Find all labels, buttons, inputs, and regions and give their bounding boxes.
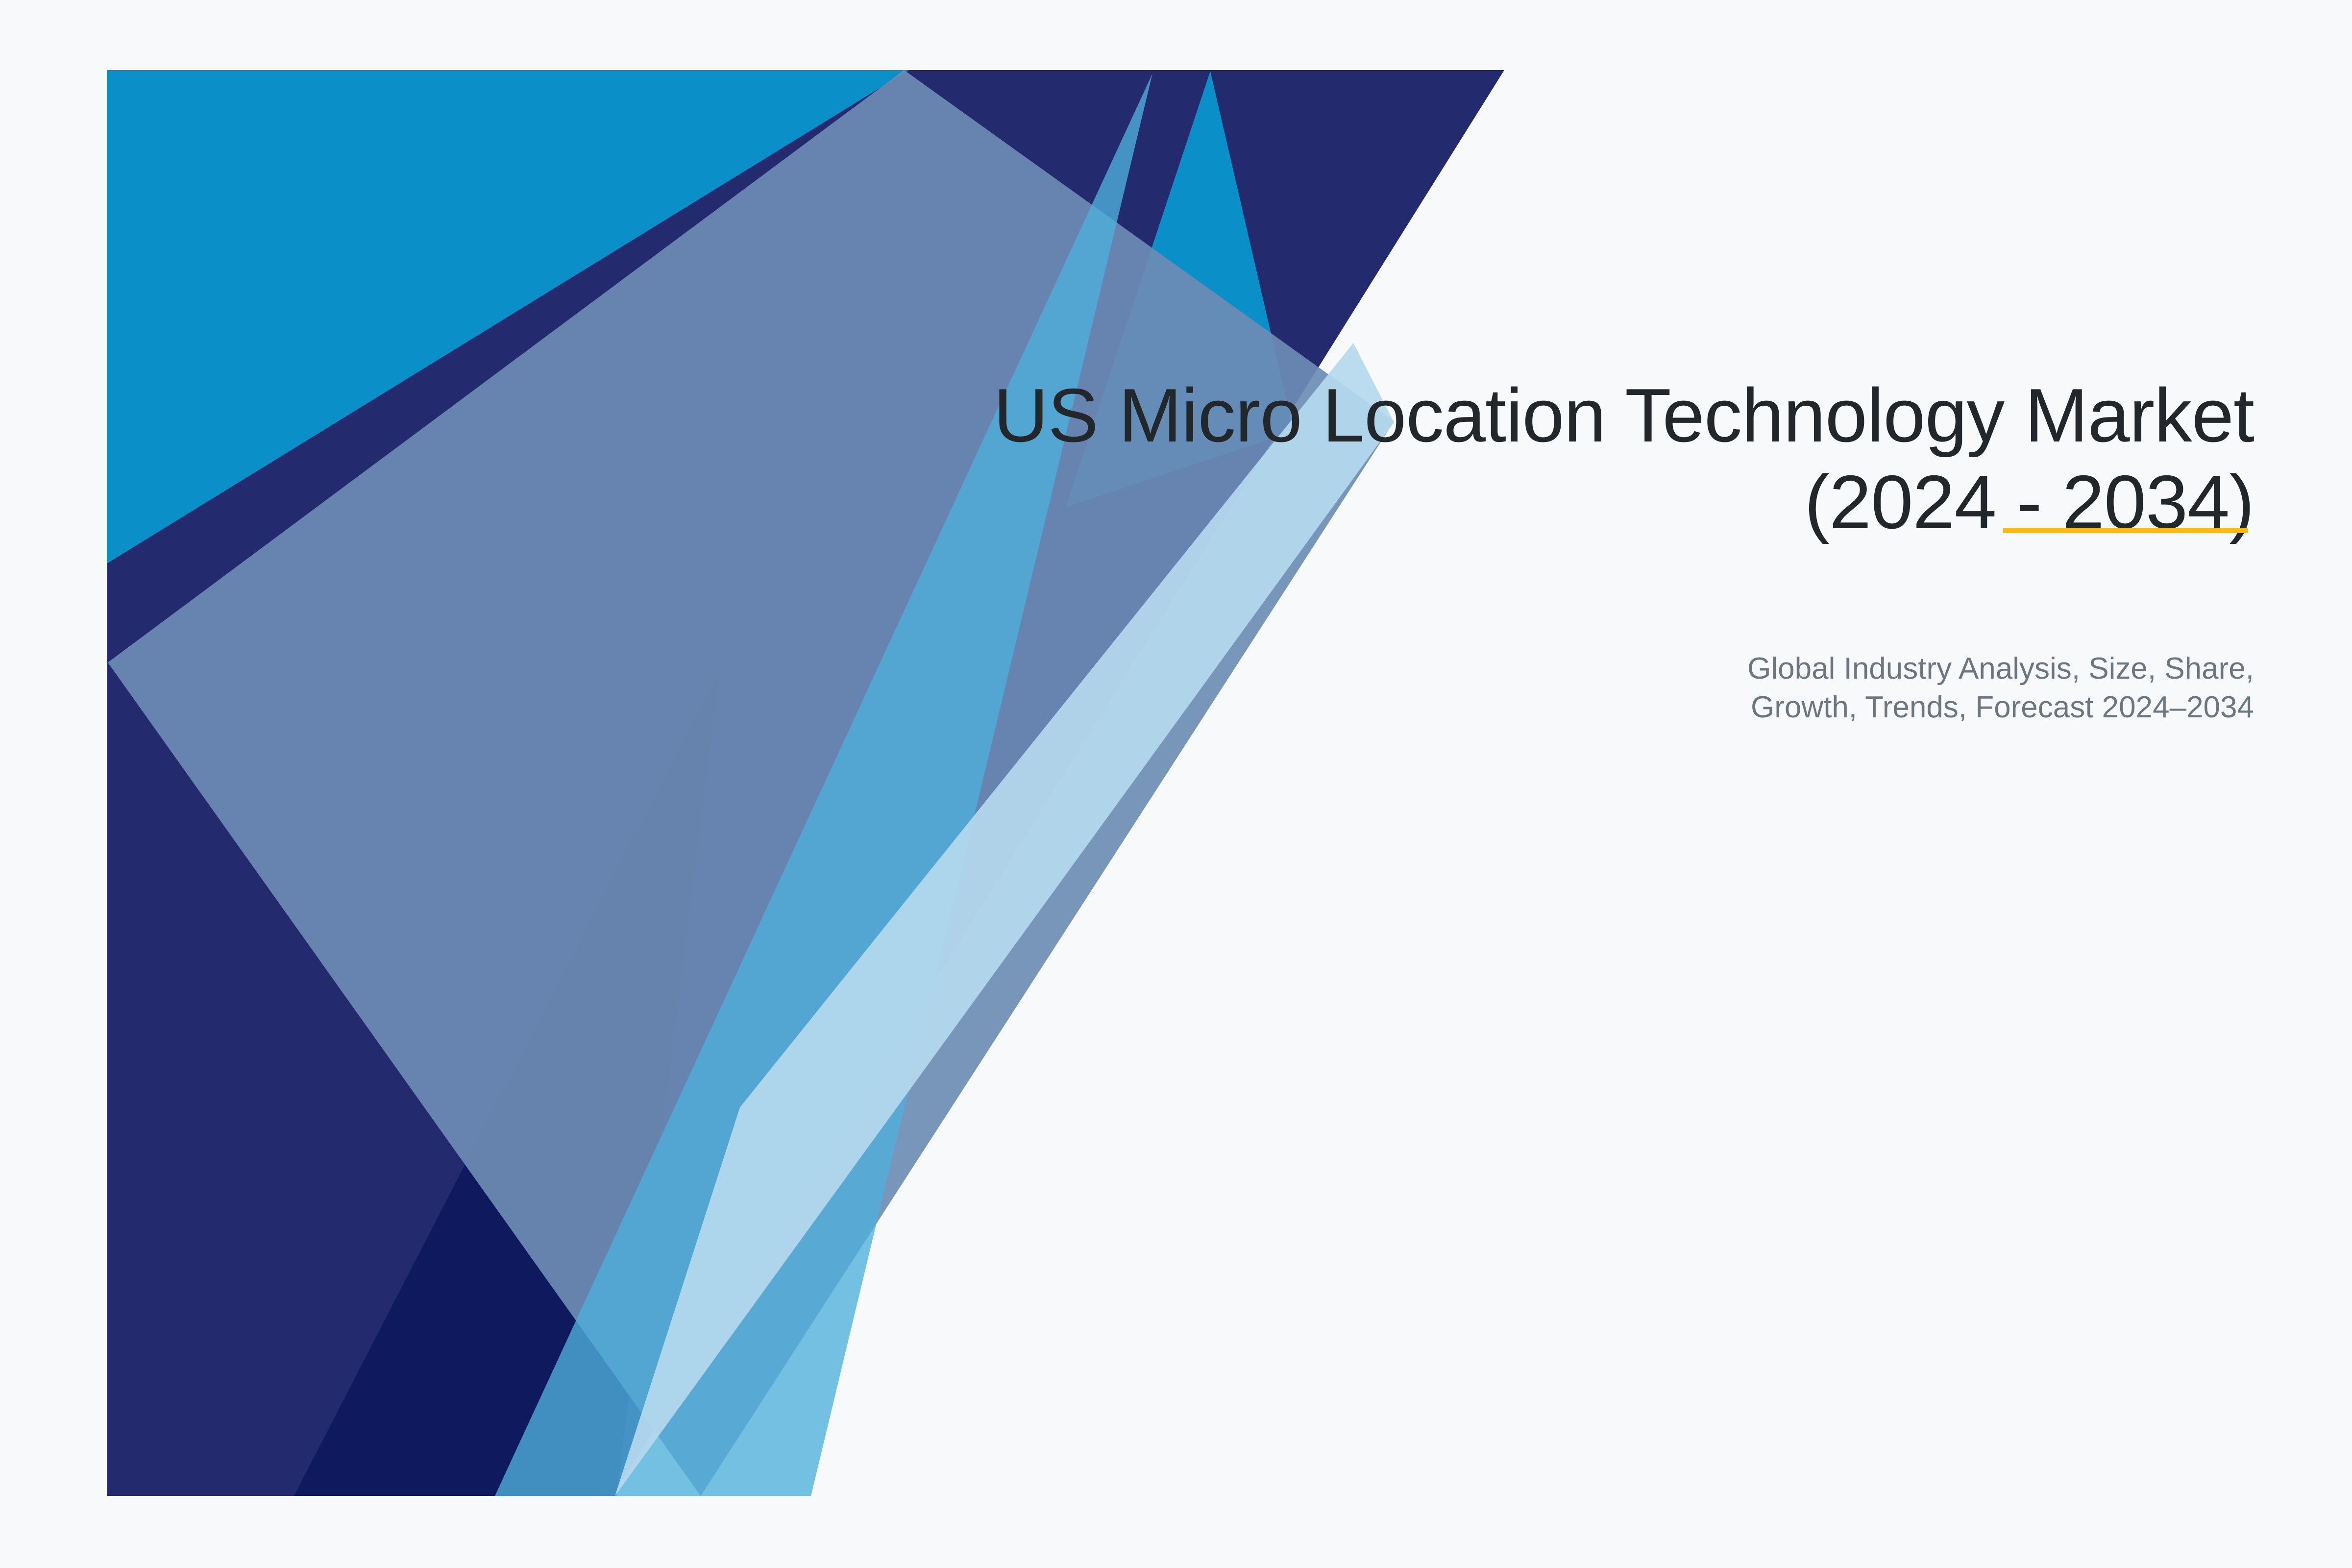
page-subtitle: Global Industry Analysis, Size, Share, G… bbox=[1274, 649, 2254, 727]
cover-text-block: US Micro Location Technology Market (202… bbox=[833, 372, 2254, 545]
title-underline-accent bbox=[2003, 528, 2248, 533]
report-cover-page: US Micro Location Technology Market (202… bbox=[0, 0, 2352, 1568]
page-title: US Micro Location Technology Market (202… bbox=[833, 372, 2254, 545]
cover-artwork bbox=[0, 0, 2352, 1568]
